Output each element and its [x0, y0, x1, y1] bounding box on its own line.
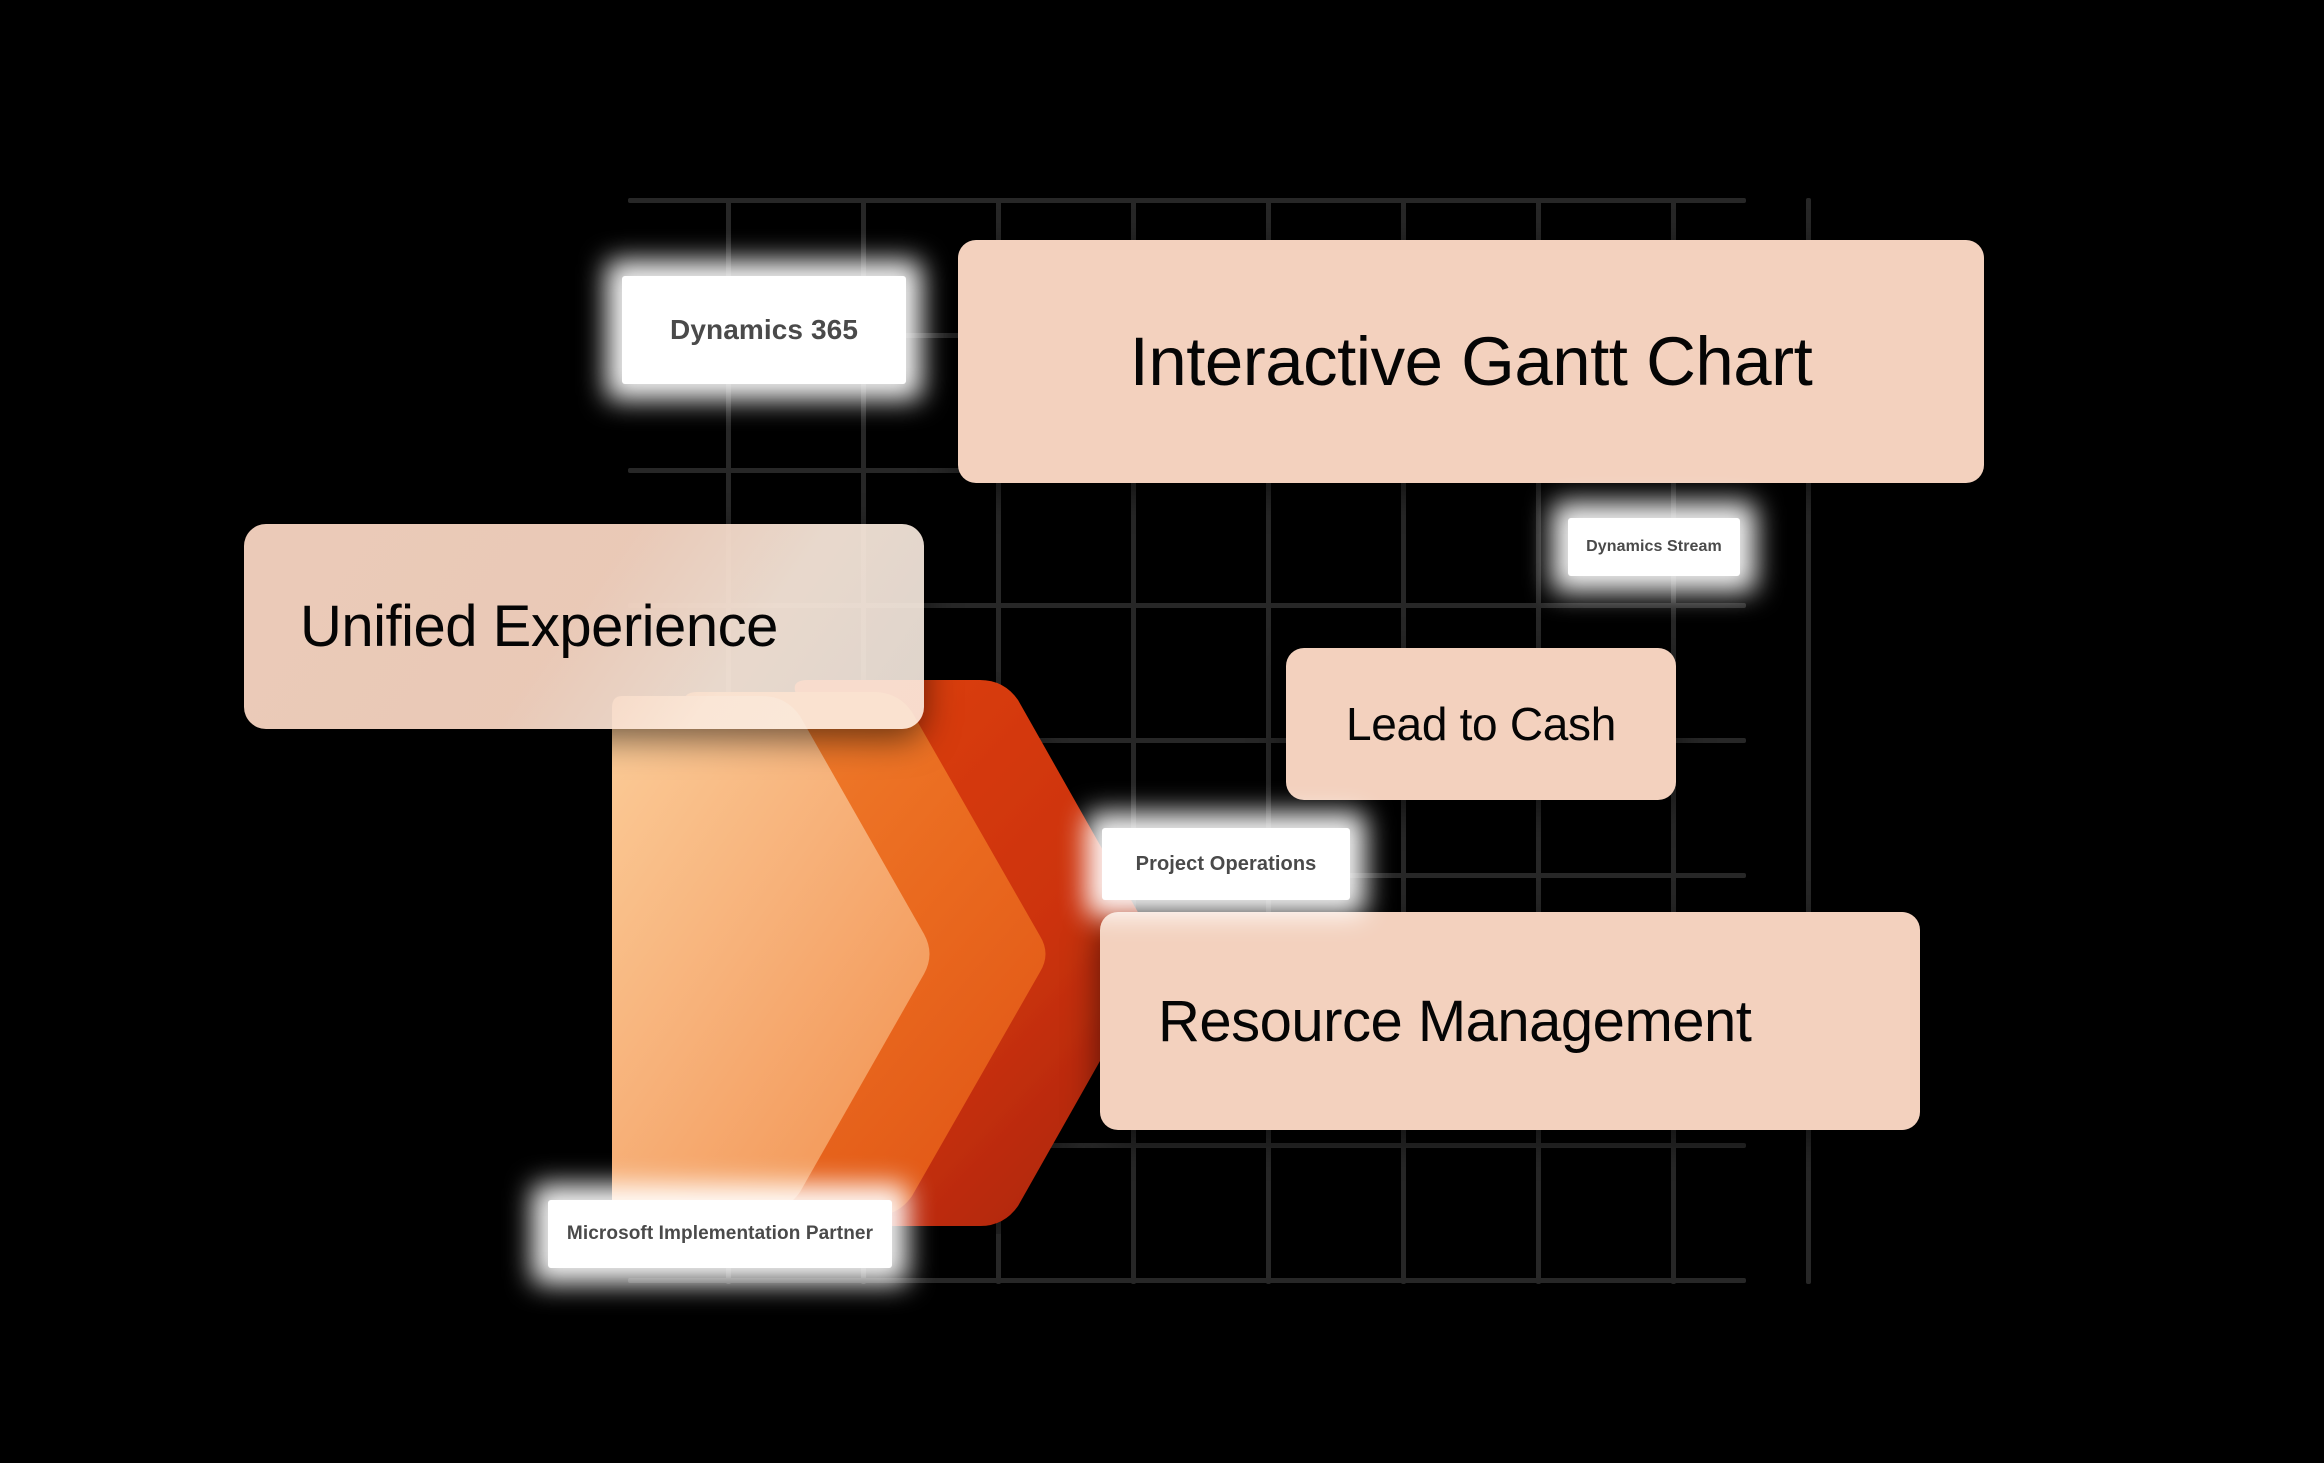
dynamics-365-project-operations-logo [612, 672, 1160, 1234]
tag-label-project-operations: Project Operations [1136, 853, 1317, 876]
tag-label-dynamics-365: Dynamics 365 [670, 314, 858, 346]
grid-line-horizontal [628, 1278, 1746, 1283]
card-label-resource-management: Resource Management [1158, 988, 1751, 1055]
card-resource-management[interactable]: Resource Management [1100, 912, 1920, 1130]
card-label-unified-experience: Unified Experience [300, 593, 778, 660]
card-interactive-gantt-chart[interactable]: Interactive Gantt Chart [958, 240, 1984, 483]
tag-dynamics-365[interactable]: Dynamics 365 [622, 276, 906, 384]
feature-board-canvas: Interactive Gantt Chart Unified Experien… [0, 0, 2324, 1463]
tag-microsoft-implementation-partner[interactable]: Microsoft Implementation Partner [548, 1200, 892, 1268]
card-label-interactive-gantt-chart: Interactive Gantt Chart [1130, 322, 1813, 401]
tag-dynamics-stream[interactable]: Dynamics Stream [1568, 518, 1740, 576]
card-lead-to-cash[interactable]: Lead to Cash [1286, 648, 1676, 800]
tag-label-dynamics-stream: Dynamics Stream [1586, 538, 1722, 556]
card-unified-experience[interactable]: Unified Experience [244, 524, 924, 729]
tag-project-operations[interactable]: Project Operations [1102, 828, 1350, 900]
tag-label-microsoft-implementation-partner: Microsoft Implementation Partner [567, 1223, 873, 1245]
grid-line-horizontal [628, 198, 1746, 203]
card-label-lead-to-cash: Lead to Cash [1346, 697, 1616, 751]
